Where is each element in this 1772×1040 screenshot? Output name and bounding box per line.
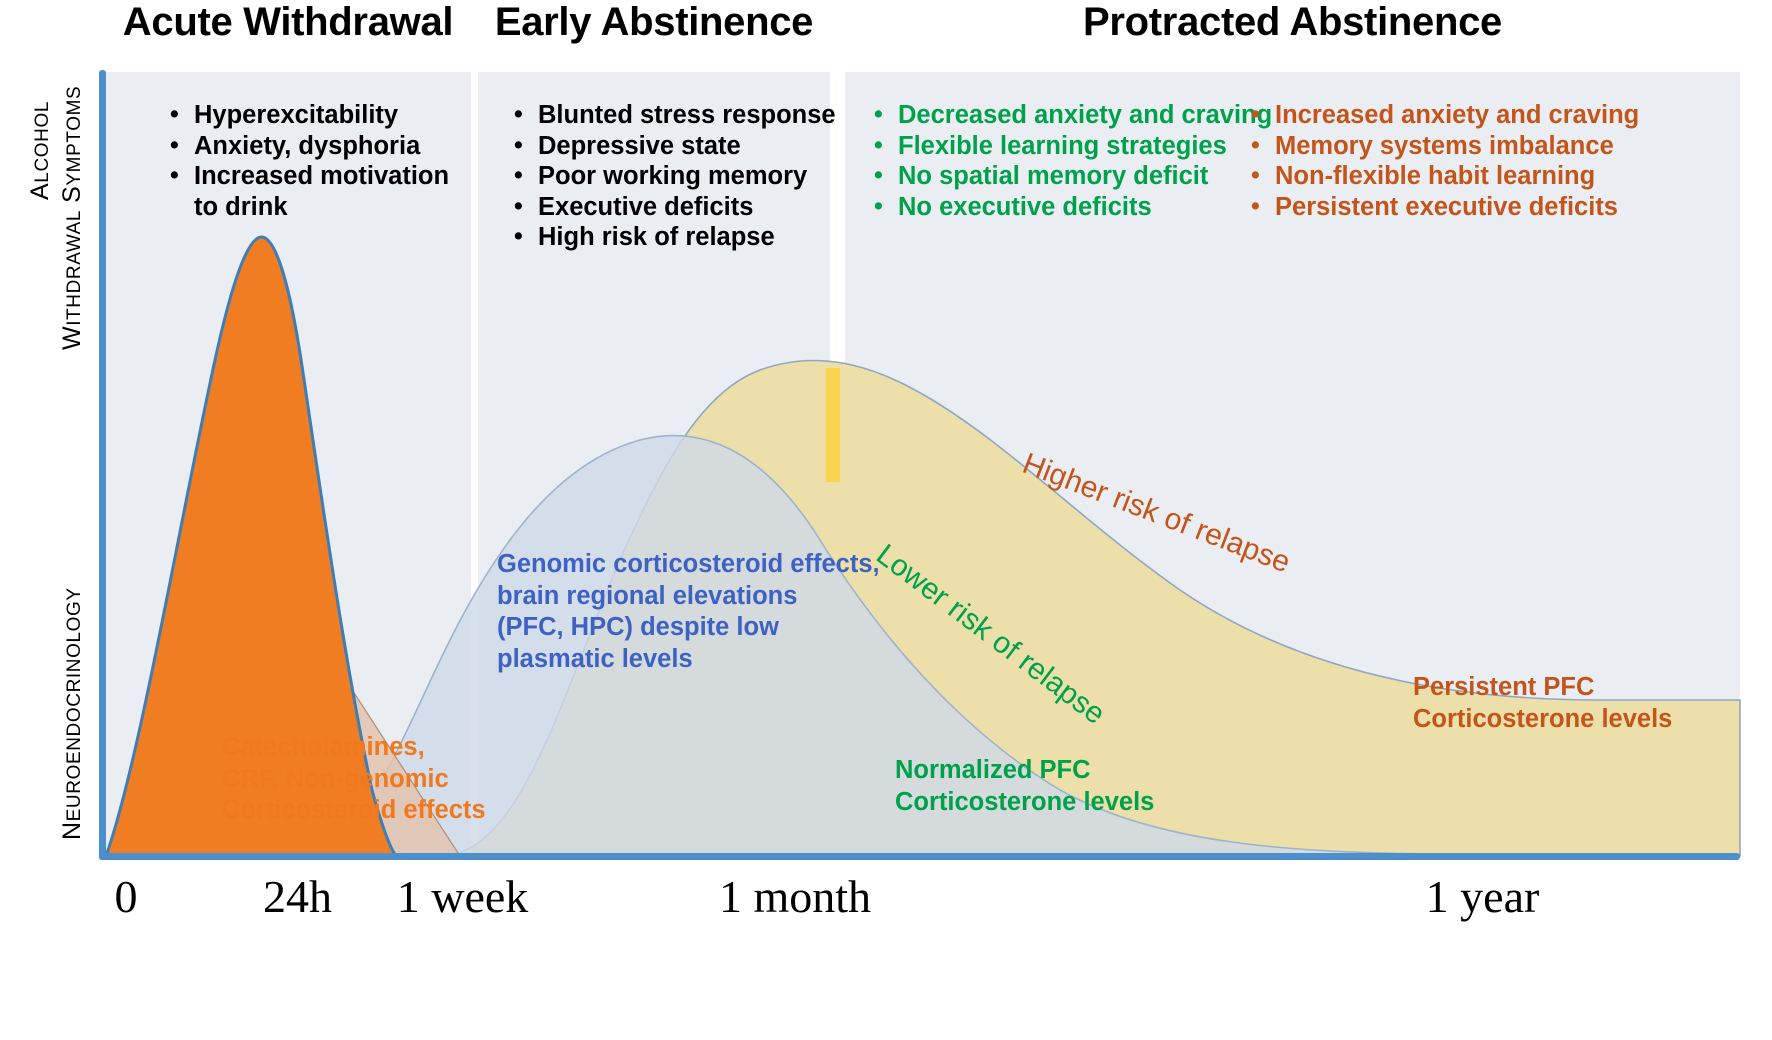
list-item: Increased anxiety and craving — [1249, 100, 1639, 131]
y-axis-label-neuroendocrinology: NEUROENDOCRINOLOGY — [58, 587, 87, 840]
list-item: Hyperexcitability — [168, 100, 449, 131]
x-tick-0: 0 — [86, 870, 166, 923]
list-item: Memory systems imbalance — [1249, 131, 1639, 162]
x-tick-1-week: 1 week — [375, 870, 550, 923]
list-item: Flexible learning strategies — [872, 131, 1272, 162]
list-item: Blunted stress response — [512, 100, 836, 131]
phase-title-early: Early Abstinence — [478, 0, 830, 45]
phase-title-acute: Acute Withdrawal — [105, 0, 471, 45]
list-item: High risk of relapse — [512, 222, 836, 253]
x-tick-1-year: 1 year — [1385, 870, 1580, 923]
phase-title-protracted: Protracted Abstinence — [845, 0, 1740, 45]
list-item: Depressive state — [512, 131, 836, 162]
symptom-list-early: Blunted stress response Depressive state… — [512, 100, 836, 253]
list-item: Increased motivation — [168, 161, 449, 192]
symptom-list-protracted-negative: Increased anxiety and craving Memory sys… — [1249, 100, 1639, 222]
x-axis-line — [99, 853, 1740, 860]
list-item: Anxiety, dysphoria — [168, 131, 449, 162]
annotation-normalized-pfc: Normalized PFC Corticosterone levels — [895, 755, 1154, 818]
list-item-continuation: to drink — [168, 192, 449, 223]
x-tick-1-month: 1 month — [690, 870, 900, 923]
list-item: Executive deficits — [512, 192, 836, 223]
list-item: No executive deficits — [872, 192, 1272, 223]
annotation-genomic-corticosteroid: Genomic corticosteroid effects, brain re… — [497, 549, 880, 675]
symptom-list-protracted-positive: Decreased anxiety and craving Flexible l… — [872, 100, 1272, 222]
list-item: No spatial memory deficit — [872, 161, 1272, 192]
list-item: Poor working memory — [512, 161, 836, 192]
y-axis-label-withdrawal-symptoms: WITHDRAWAL SYMPTOMS — [58, 86, 87, 350]
annotation-catecholamines: Catecholamines, CRF, Non-genomic Cortico… — [222, 732, 486, 827]
symptom-list-acute: Hyperexcitability Anxiety, dysphoria Inc… — [168, 100, 449, 222]
yellow-accent-stripe — [826, 368, 840, 482]
list-item: Persistent executive deficits — [1249, 192, 1639, 223]
annotation-persistent-pfc: Persistent PFC Corticosterone levels — [1413, 672, 1672, 735]
list-item: Decreased anxiety and craving — [872, 100, 1272, 131]
figure-canvas: Acute Withdrawal Early Abstinence Protra… — [0, 0, 1772, 1040]
x-tick-24h: 24h — [240, 870, 355, 923]
y-axis-line — [99, 70, 106, 860]
list-item: Non-flexible habit learning — [1249, 161, 1639, 192]
y-axis-label-alcohol: ALCOHOL — [26, 101, 55, 200]
